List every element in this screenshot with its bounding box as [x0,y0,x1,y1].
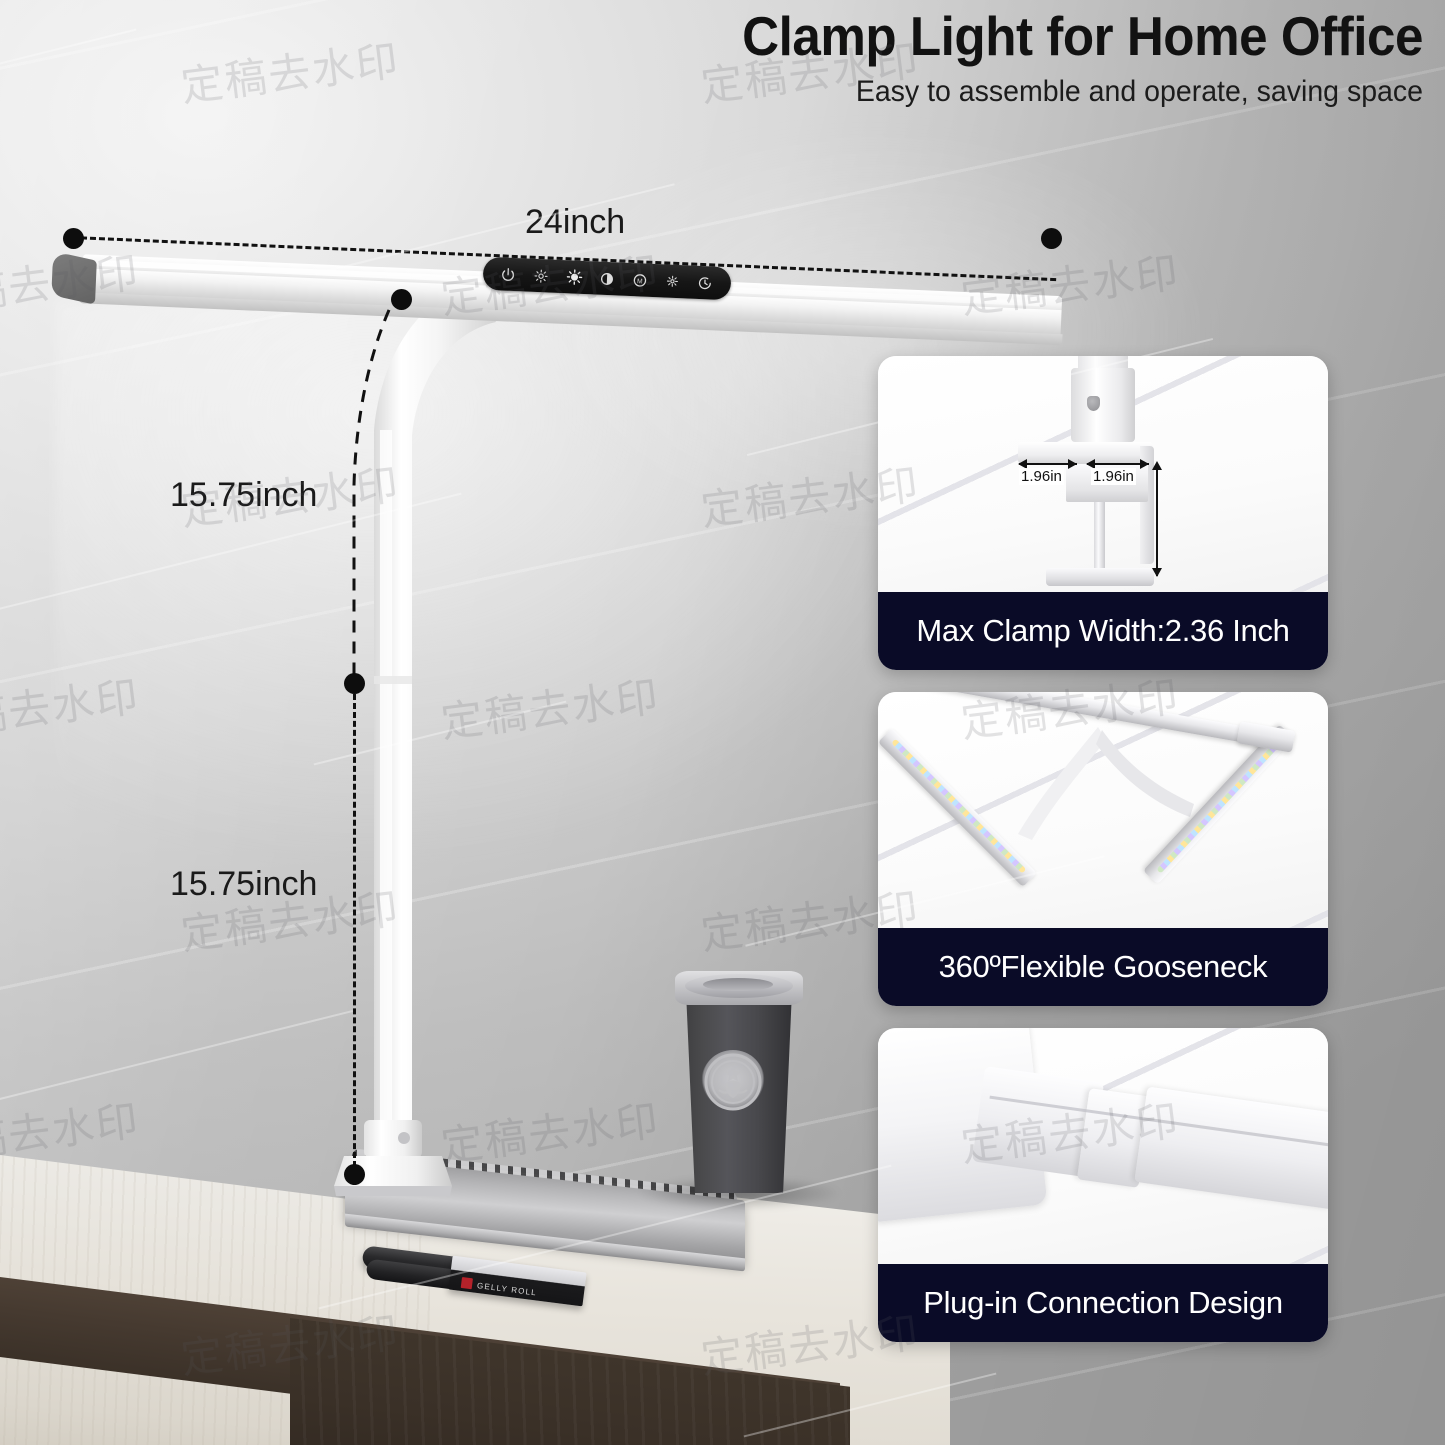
vertical-dimension-label-lower: 15.75inch [170,865,317,904]
measure-arrow-vertical-bottom [1152,568,1162,577]
clamp-collar [1071,368,1135,442]
page-subtitle: Easy to assemble and operate, saving spa… [473,75,1423,109]
cup-lid [675,971,803,1005]
dimension-endpoint-dot-left [63,228,84,249]
dimension-endpoint-dot-right [1041,228,1062,249]
night-light-icon[interactable] [661,270,684,293]
card-caption-text: 360ºFlexible Gooseneck [939,949,1268,985]
feature-card-plug-in[interactable]: Plug-in Connection Design [878,1028,1328,1342]
card-caption-text: Max Clamp Width:2.36 Inch [916,613,1289,649]
dimension-endpoint-dot-middle [344,673,365,694]
measure-arrow-right-end [1140,459,1149,469]
card-caption-plug-in: Plug-in Connection Design [878,1264,1328,1342]
clamp-screw-hole [1087,396,1100,411]
card-caption-gooseneck: 360ºFlexible Gooseneck [878,928,1328,1006]
power-icon[interactable] [497,263,520,286]
card-caption-text: Plug-in Connection Design [923,1285,1283,1321]
measure-arrow-vertical-top [1152,461,1162,470]
measure-label-right: 1.96in [1091,468,1136,485]
brightness-down-icon[interactable] [530,264,553,287]
memory-mode-icon[interactable]: M [628,268,651,291]
plug-connection-diagram [878,1028,1328,1264]
vertical-dimension-curve [330,285,420,705]
card-caption-clamp-width: Max Clamp Width:2.36 Inch [878,592,1328,670]
measure-label-left: 1.96in [1019,468,1064,485]
feature-card-clamp-width[interactable]: 1.96in 1.96in Max Clamp Width:2.36 Inch [878,356,1328,670]
feature-cards-column: 1.96in 1.96in Max Clamp Width:2.36 Inch [878,356,1328,1364]
pen-box-logo-mark [461,1277,473,1289]
vertical-dimension-line-lower [353,685,356,1185]
cup-lid-opening [703,978,773,991]
clamp-base-pad [1046,568,1154,586]
vertical-dimension-label-upper: 15.75inch [170,476,317,515]
feature-card-gooseneck[interactable]: 360ºFlexible Gooseneck [878,692,1328,1006]
dimension-endpoint-dot-top [391,289,412,310]
clamp-diagram: 1.96in 1.96in [878,356,1328,592]
timer-icon[interactable] [694,271,717,294]
horizontal-dimension-label: 24inch [525,203,625,242]
gooseneck-diagram [878,692,1328,928]
brightness-up-icon[interactable] [563,266,586,289]
dimension-endpoint-dot-bottom [344,1164,365,1185]
measure-arrow-left-end [1068,459,1077,469]
infographic-canvas: GELLY ROLL [0,0,1445,1445]
header-block: Clamp Light for Home Office Easy to asse… [423,8,1423,109]
page-title: Clamp Light for Home Office [493,8,1423,66]
color-temperature-icon[interactable] [595,267,618,290]
coffee-cup [675,955,803,1193]
lamp-bar-end-cap [51,251,97,305]
svg-text:M: M [637,278,643,285]
measure-line-vertical [1156,464,1158,576]
coffee-logo-icon [701,1050,765,1114]
